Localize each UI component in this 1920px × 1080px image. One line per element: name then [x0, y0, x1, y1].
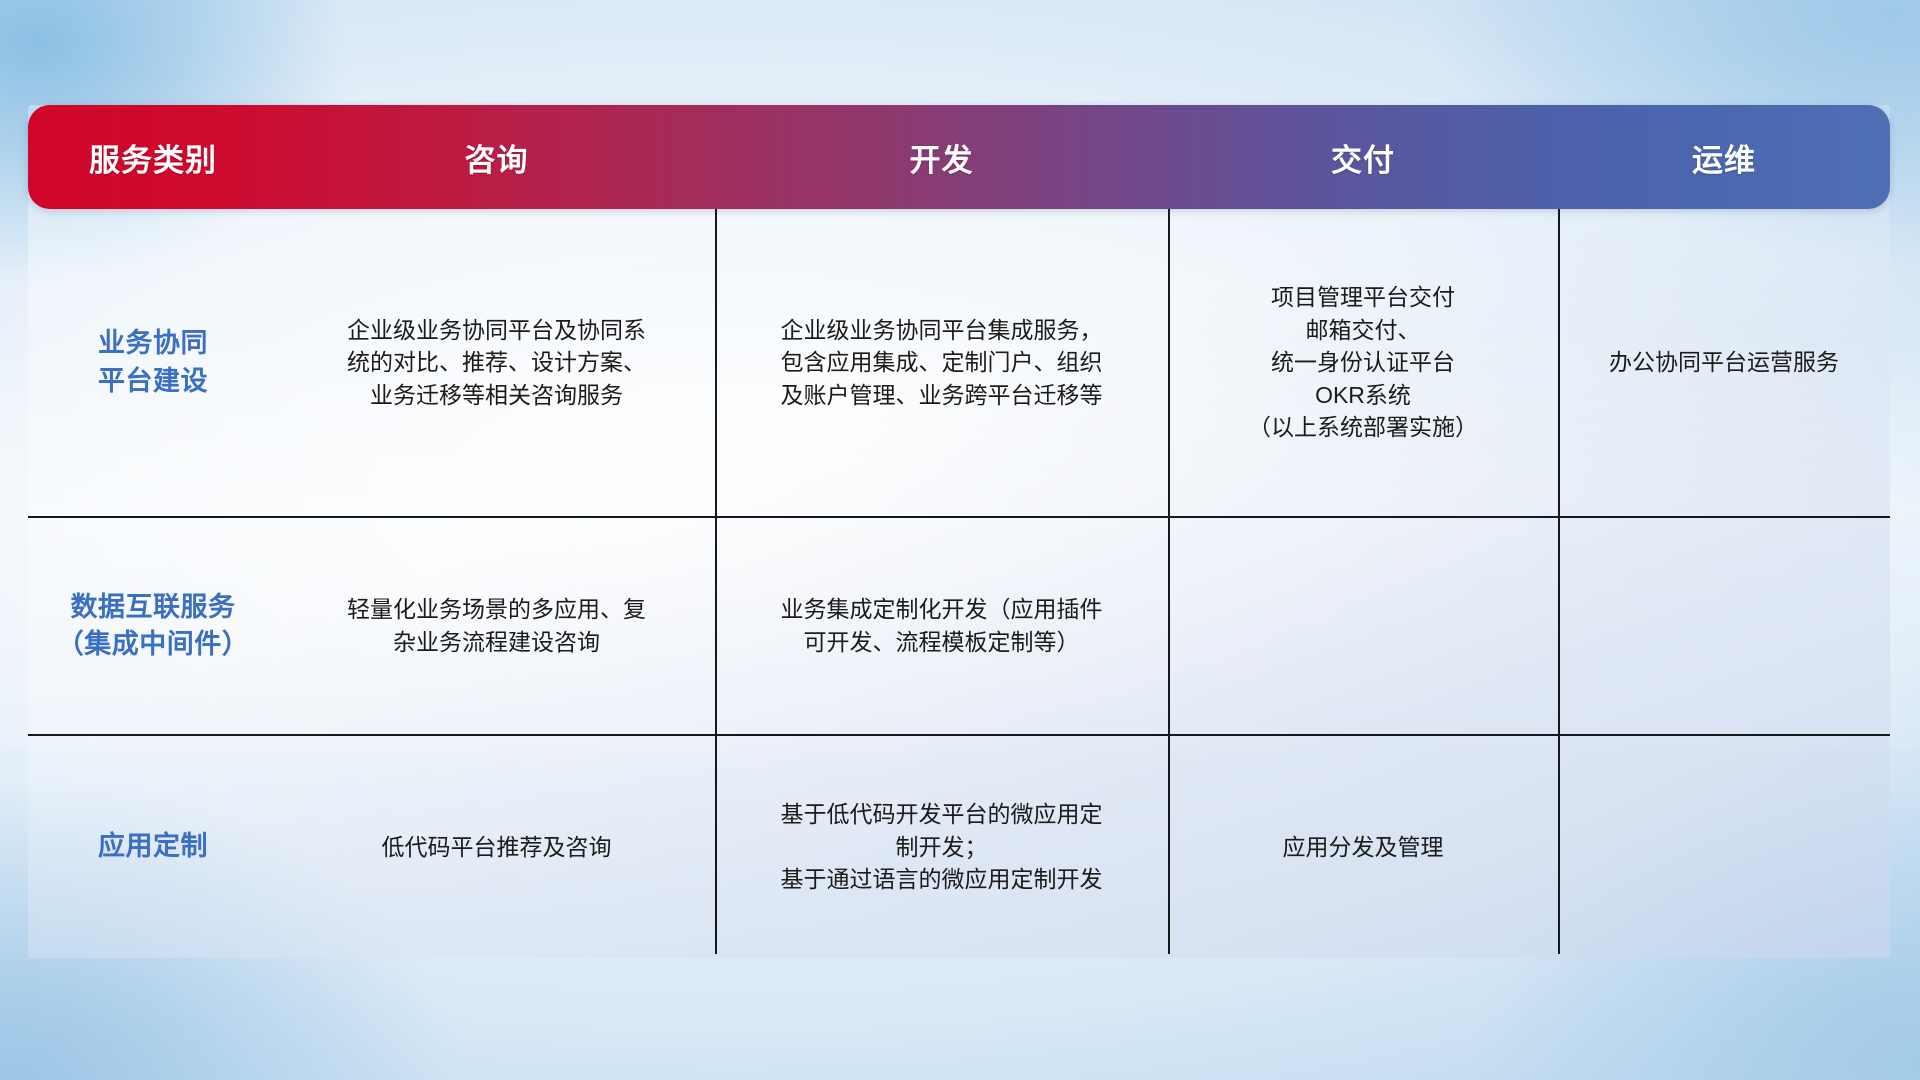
- table-row: 应用定制 低代码平台推荐及咨询 基于低代码开发平台的微应用定 制开发； 基于通过…: [28, 736, 1890, 958]
- column-header-category: 服务类别: [28, 135, 278, 180]
- row-1-consulting: 企业级业务协同平台及协同系 统的对比、推荐、设计方案、 业务迁移等相关咨询服务: [278, 209, 715, 516]
- column-divider-2: [1168, 209, 1170, 954]
- column-header-consulting: 咨询: [278, 135, 715, 180]
- column-header-operations: 运维: [1558, 135, 1890, 180]
- row-3-category: 应用定制: [28, 736, 278, 958]
- row-1-delivery: 项目管理平台交付 邮箱交付、 统一身份认证平台 OKR系统 （以上系统部署实施）: [1168, 209, 1558, 516]
- row-divider-1: [28, 516, 1890, 518]
- row-2-delivery: [1168, 518, 1558, 734]
- table-header-row: 服务类别 咨询 开发 交付 运维: [28, 105, 1890, 209]
- column-header-delivery: 交付: [1168, 135, 1558, 180]
- column-divider-1: [715, 209, 717, 954]
- row-2-category: 数据互联服务 （集成中间件）: [28, 518, 278, 734]
- column-header-development: 开发: [715, 135, 1168, 180]
- row-2-operations: [1558, 518, 1890, 734]
- table-row: 业务协同 平台建设 企业级业务协同平台及协同系 统的对比、推荐、设计方案、 业务…: [28, 209, 1890, 516]
- row-3-delivery: 应用分发及管理: [1168, 736, 1558, 958]
- row-3-operations: [1558, 736, 1890, 958]
- table-row: 数据互联服务 （集成中间件） 轻量化业务场景的多应用、复 杂业务流程建设咨询 业…: [28, 518, 1890, 734]
- row-2-development: 业务集成定制化开发（应用插件 可开发、流程模板定制等）: [715, 518, 1168, 734]
- row-divider-2: [28, 734, 1890, 736]
- column-divider-3: [1558, 209, 1560, 954]
- table-body: 业务协同 平台建设 企业级业务协同平台及协同系 统的对比、推荐、设计方案、 业务…: [28, 209, 1890, 958]
- row-1-development: 企业级业务协同平台集成服务， 包含应用集成、定制门户、组织 及账户管理、业务跨平…: [715, 209, 1168, 516]
- row-3-development: 基于低代码开发平台的微应用定 制开发； 基于通过语言的微应用定制开发: [715, 736, 1168, 958]
- row-2-consulting: 轻量化业务场景的多应用、复 杂业务流程建设咨询: [278, 518, 715, 734]
- row-1-operations: 办公协同平台运营服务: [1558, 209, 1890, 516]
- service-matrix-table: 服务类别 咨询 开发 交付 运维 业务协同 平台建设 企业级业务协同平台及协同系…: [28, 105, 1890, 958]
- row-1-category: 业务协同 平台建设: [28, 209, 278, 516]
- row-3-consulting: 低代码平台推荐及咨询: [278, 736, 715, 958]
